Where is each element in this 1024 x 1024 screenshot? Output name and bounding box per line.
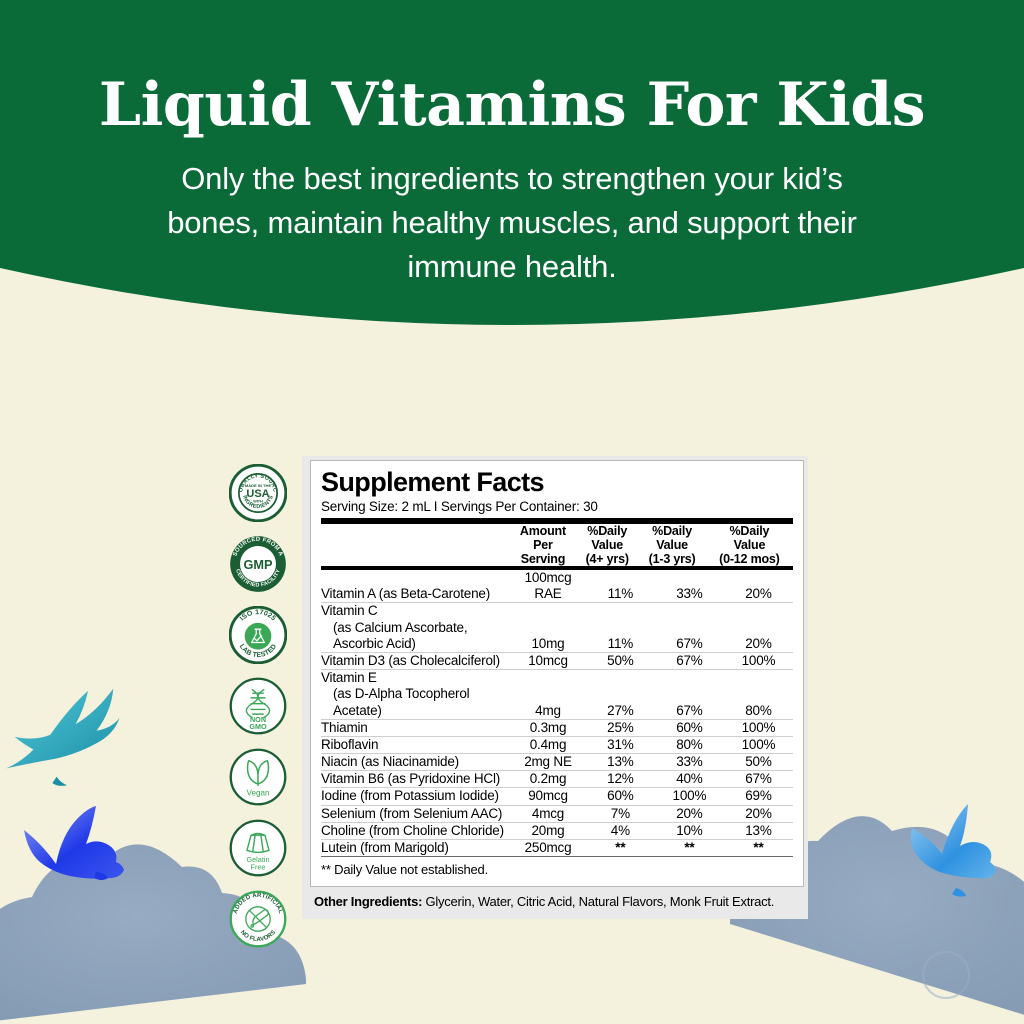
no-artificial-flavors-badge: ADDED ARTIFICIAL NO FLAVORS (229, 890, 287, 948)
nutrient-dv-1to3: ** (655, 840, 724, 857)
nutrient-amount: 20mg (510, 822, 586, 839)
svg-text:WITH: WITH (253, 499, 263, 503)
other-ingredients-text: Glycerin, Water, Citric Acid, Natural Fl… (422, 894, 774, 909)
nutrient-amount: 0.4mg (510, 736, 586, 753)
nutrient-dv-0to12: 20% (724, 805, 793, 822)
nutrient-dv-4plus: 7% (586, 805, 655, 822)
nutrient-dv-0to12: 50% (724, 754, 793, 771)
nutrient-amount: 0.2mg (510, 771, 586, 788)
table-row: Vitamin A (as Beta-Carotene) 100mcg RAE … (321, 570, 793, 603)
bird-blue-icon (24, 806, 124, 880)
hero-subtitle: Only the best ingredients to strengthen … (162, 157, 862, 289)
certification-badge-column: GLOBALLY SOURCED INGREDIENTS MADE IN THE… (222, 464, 294, 948)
table-row: Lutein (from Marigold) 250mcg ** ** ** (321, 840, 793, 857)
table-row: Vitamin E(as D-Alpha Tocopherol Acetate)… (321, 670, 793, 720)
nutrient-name: Lutein (from Marigold) (321, 840, 449, 855)
nutrient-dv-0to12: 67% (724, 771, 793, 788)
daily-value-footnote: ** Daily Value not established. (321, 856, 793, 880)
nutrient-dv-1to3: 20% (655, 805, 724, 822)
svg-text:Vegan: Vegan (246, 789, 269, 798)
nutrient-name: Vitamin A (as Beta-Carotene) (321, 586, 490, 601)
table-header-row: Amount Per Serving %Daily Value (4+ yrs)… (321, 524, 793, 566)
serving-size-line: Serving Size: 2 mL I Servings Per Contai… (321, 499, 793, 514)
bird-teal-icon (6, 689, 119, 786)
supplement-facts-title: Supplement Facts (321, 469, 793, 496)
nutrient-amount: 4mg (510, 670, 586, 720)
column-header-dv-0to12: %Daily Value (0-12 mos) (706, 524, 793, 566)
nutrient-dv-1to3: 67% (655, 652, 724, 669)
nutrient-amount: 100mcg RAE (510, 570, 586, 603)
table-row: Vitamin D3 (as Cholecalciferol) 10mcg 50… (321, 652, 793, 669)
supplement-facts-label: Supplement Facts Serving Size: 2 mL I Se… (302, 456, 808, 919)
table-row: Vitamin B6 (as Pyridoxine HCl) 0.2mg 12%… (321, 771, 793, 788)
nutrient-dv-0to12: 20% (724, 603, 793, 653)
nutrient-dv-1to3: 100% (655, 788, 724, 805)
nutrient-dv-0to12: 13% (724, 822, 793, 839)
table-row: Niacin (as Niacinamide) 2mg NE 13% 33% 5… (321, 754, 793, 771)
nutrient-dv-4plus: 27% (586, 670, 655, 720)
nutrient-name: Thiamin (321, 720, 368, 735)
nutrient-source: (as D-Alpha Tocopherol Acetate) (321, 686, 510, 718)
nutrient-amount: 90mcg (510, 788, 586, 805)
nutrient-dv-4plus: 12% (586, 771, 655, 788)
nutrient-dv-4plus: 31% (586, 736, 655, 753)
nutrient-name: Vitamin D3 (as Cholecalciferol) (321, 653, 500, 668)
nutrient-source: (as Calcium Ascorbate, Ascorbic Acid) (321, 620, 510, 652)
gmp-badge: SOURCED FROM A CERTIFIED FACILITY GMP (229, 535, 287, 593)
nutrient-dv-4plus: 25% (586, 719, 655, 736)
table-row: Vitamin C(as Calcium Ascorbate, Ascorbic… (321, 603, 793, 653)
hero-banner: Liquid Vitamins For Kids Only the best i… (0, 0, 1024, 372)
table-row: Thiamin 0.3mg 25% 60% 100% (321, 719, 793, 736)
vegan-badge: Vegan (229, 748, 287, 806)
nutrient-name: Choline (from Choline Chloride) (321, 823, 504, 838)
svg-text:GMP: GMP (243, 557, 273, 572)
nutrient-dv-4plus: 60% (586, 788, 655, 805)
nutrient-amount: 10mg (510, 603, 586, 653)
column-header-dv-4plus: %Daily Value (4+ yrs) (576, 524, 638, 566)
usa-badge-icon: GLOBALLY SOURCED INGREDIENTS MADE IN THE… (229, 464, 287, 522)
nutrient-name: Vitamin B6 (as Pyridoxine HCl) (321, 771, 500, 786)
nutrient-dv-0to12: 100% (724, 719, 793, 736)
gelatin-free-badge: Gelatin Free (229, 819, 287, 877)
supplement-facts-table: Amount Per Serving %Daily Value (4+ yrs)… (321, 524, 793, 566)
dna-icon: NON GMO (229, 677, 287, 735)
svg-text:MADE IN THE: MADE IN THE (245, 483, 272, 488)
nutrient-dv-1to3: 67% (655, 603, 724, 653)
nutrient-name: Niacin (as Niacinamide) (321, 754, 459, 769)
nutrient-dv-0to12: 80% (724, 670, 793, 720)
svg-text:USA: USA (246, 488, 269, 500)
other-ingredients: Other Ingredients: Glycerin, Water, Citr… (302, 887, 808, 918)
table-row: Riboflavin 0.4mg 31% 80% 100% (321, 736, 793, 753)
nutrient-name: Vitamin E (321, 670, 377, 685)
iso-lab-tested-badge: ISO 17025 LAB TESTED (229, 606, 287, 664)
nutrient-dv-1to3: 33% (655, 754, 724, 771)
nutrient-dv-1to3: 67% (655, 670, 724, 720)
nutrient-name: Riboflavin (321, 737, 378, 752)
nutrient-dv-4plus: ** (586, 840, 655, 857)
nutrient-dv-1to3: 60% (655, 719, 724, 736)
capsule-icon: Gelatin Free (229, 819, 287, 877)
nutrient-dv-1to3: 10% (655, 822, 724, 839)
leaf-icon: Vegan (229, 748, 287, 806)
nutrient-amount: 2mg NE (510, 754, 586, 771)
svg-text:GMO: GMO (249, 722, 267, 731)
nutrient-dv-0to12: ** (724, 840, 793, 857)
flask-icon: ISO 17025 LAB TESTED (229, 606, 287, 664)
nutrient-dv-0to12: 69% (724, 788, 793, 805)
nutrient-dv-1to3: 33% (655, 570, 724, 603)
nutrient-dv-0to12: 100% (724, 736, 793, 753)
nutrient-dv-1to3: 80% (655, 736, 724, 753)
nutrient-amount: 0.3mg (510, 719, 586, 736)
table-row: Choline (from Choline Chloride) 20mg 4% … (321, 822, 793, 839)
nutrient-dv-0to12: 20% (724, 570, 793, 603)
nutrient-amount: 250mcg (510, 840, 586, 857)
gmp-badge-icon: SOURCED FROM A CERTIFIED FACILITY GMP (229, 535, 287, 593)
non-gmo-badge: NON GMO (229, 677, 287, 735)
nutrient-amount: 4mcg (510, 805, 586, 822)
table-row: Iodine (from Potassium Iodide) 90mcg 60%… (321, 788, 793, 805)
usa-badge: GLOBALLY SOURCED INGREDIENTS MADE IN THE… (229, 464, 287, 522)
nutrient-name: Selenium (from Selenium AAC) (321, 806, 502, 821)
nutrient-dv-4plus: 13% (586, 754, 655, 771)
column-header-nutrient (321, 524, 510, 566)
other-ingredients-label: Other Ingredients: (314, 894, 422, 909)
nutrient-dv-4plus: 11% (586, 570, 655, 603)
nutrient-dv-4plus: 11% (586, 603, 655, 653)
table-row: Selenium (from Selenium AAC) 4mcg 7% 20%… (321, 805, 793, 822)
column-header-dv-1to3: %Daily Value (1-3 yrs) (638, 524, 705, 566)
nutrient-dv-0to12: 100% (724, 652, 793, 669)
column-header-amount-per-serving: Amount Per Serving (510, 524, 576, 566)
nutrient-dv-4plus: 4% (586, 822, 655, 839)
bird-skyblue-icon (911, 804, 996, 897)
nutrient-rows-table: Vitamin A (as Beta-Carotene) 100mcg RAE … (321, 570, 793, 856)
nutrient-name: Iodine (from Potassium Iodide) (321, 788, 499, 803)
nutrient-dv-1to3: 40% (655, 771, 724, 788)
page-title: Liquid Vitamins For Kids (0, 74, 1024, 137)
nutrient-amount: 10mcg (510, 652, 586, 669)
supplement-facts-panel: Supplement Facts Serving Size: 2 mL I Se… (310, 460, 804, 887)
dropper-no-icon: ADDED ARTIFICIAL NO FLAVORS (229, 890, 287, 948)
svg-text:Free: Free (251, 862, 266, 871)
nutrient-name: Vitamin C (321, 603, 377, 618)
nutrient-dv-4plus: 50% (586, 652, 655, 669)
